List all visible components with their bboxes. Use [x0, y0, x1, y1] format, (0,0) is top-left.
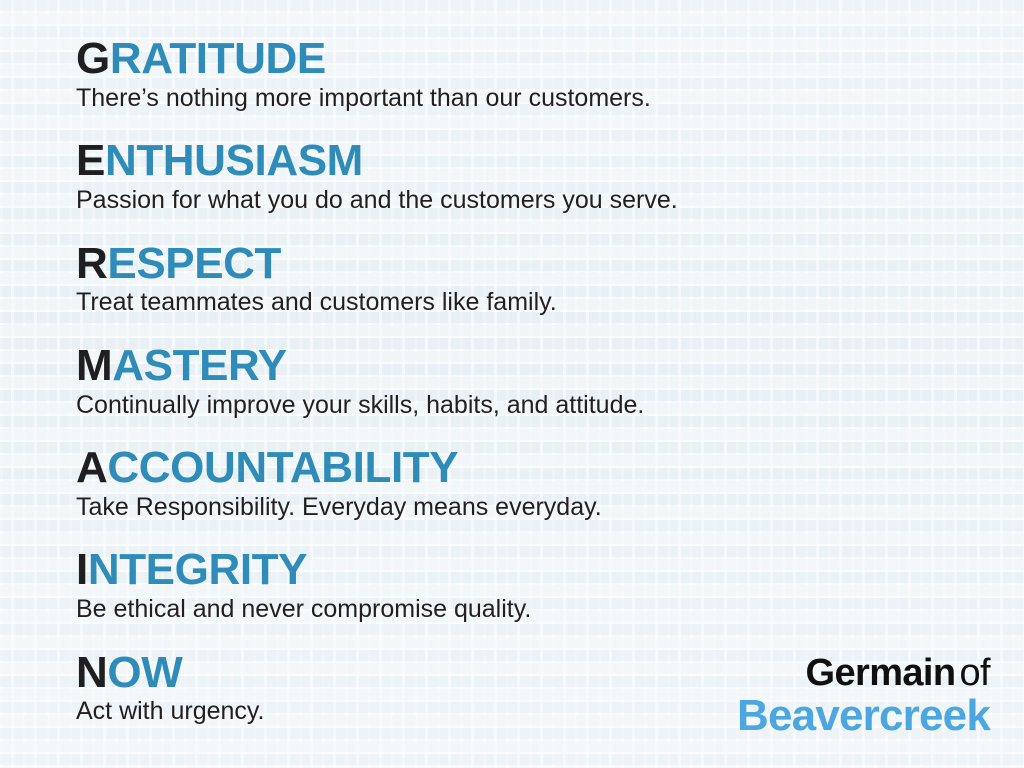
value-heading-enthusiasm: ENTHUSIASM: [76, 138, 976, 184]
value-heading-accountability: ACCOUNTABILITY: [76, 445, 976, 491]
value-initial-letter: G: [76, 34, 110, 83]
value-description-integrity: Be ethical and never compromise quality.: [76, 595, 976, 625]
logo-top-line: Germainof: [737, 654, 990, 692]
value-block-gratitude: GRATITUDE There’s nothing more important…: [76, 36, 976, 113]
value-description-gratitude: There’s nothing more important than our …: [76, 84, 976, 114]
value-description-accountability: Take Responsibility. Everyday means ever…: [76, 493, 976, 523]
value-remainder-letters: NTHUSIASM: [105, 136, 363, 185]
logo-brand-name: Germain: [806, 652, 956, 694]
value-block-respect: RESPECT Treat teammates and customers li…: [76, 241, 976, 318]
value-initial-letter: R: [76, 239, 107, 288]
value-heading-gratitude: GRATITUDE: [76, 36, 976, 82]
value-description-enthusiasm: Passion for what you do and the customer…: [76, 186, 976, 216]
value-initial-letter: M: [76, 341, 112, 390]
value-remainder-letters: ESPECT: [107, 239, 281, 288]
value-remainder-letters: NTEGRITY: [88, 545, 307, 594]
value-heading-respect: RESPECT: [76, 241, 976, 287]
value-remainder-letters: RATITUDE: [110, 34, 326, 83]
value-block-integrity: INTEGRITY Be ethical and never compromis…: [76, 547, 976, 624]
value-initial-letter: E: [76, 136, 105, 185]
value-remainder-letters: ASTERY: [112, 341, 286, 390]
value-remainder-letters: OW: [107, 648, 182, 697]
dealership-logo: Germainof Beavercreek: [737, 654, 990, 738]
value-block-enthusiasm: ENTHUSIASM Passion for what you do and t…: [76, 138, 976, 215]
value-heading-mastery: MASTERY: [76, 343, 976, 389]
value-initial-letter: I: [76, 545, 88, 594]
value-initial-letter: A: [76, 443, 107, 492]
value-initial-letter: N: [76, 648, 107, 697]
value-block-accountability: ACCOUNTABILITY Take Responsibility. Ever…: [76, 445, 976, 522]
values-list: GRATITUDE There’s nothing more important…: [76, 36, 976, 727]
value-description-respect: Treat teammates and customers like famil…: [76, 288, 976, 318]
value-remainder-letters: CCOUNTABILITY: [107, 443, 458, 492]
value-block-mastery: MASTERY Continually improve your skills,…: [76, 343, 976, 420]
logo-location-name: Beavercreek: [737, 694, 990, 738]
value-description-mastery: Continually improve your skills, habits,…: [76, 391, 976, 421]
value-heading-integrity: INTEGRITY: [76, 547, 976, 593]
logo-connector-word: of: [960, 652, 991, 694]
core-values-poster: GRATITUDE There’s nothing more important…: [0, 0, 1024, 768]
